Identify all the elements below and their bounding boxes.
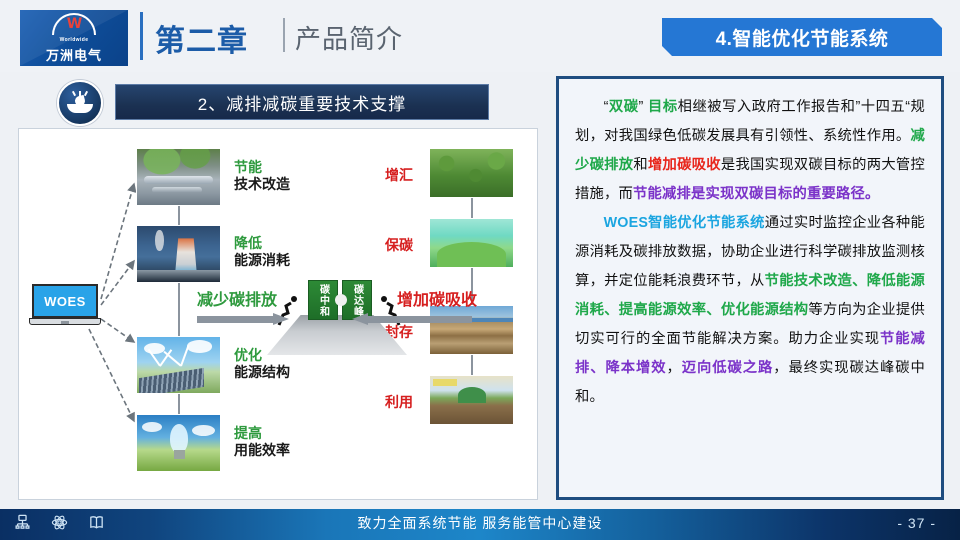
page-title: 产品简介 — [295, 19, 403, 56]
paragraph-1: “双碳” 目标相继被写入政府工作报告和”十四五“规划，对我国绿色低碳发展具有引领… — [575, 93, 925, 209]
slide-header: W Worldwide 万洲电气 第二章 产品简介 4.智能优化节能系统 — [0, 0, 960, 72]
section-badge: 4.智能优化节能系统 — [662, 18, 942, 56]
reduce-emission-arrow — [197, 313, 289, 325]
left-label-4: 提高 用能效率 — [234, 425, 290, 459]
carbon-utilization-photo — [429, 375, 514, 425]
increase-absorption-arrow — [352, 313, 472, 325]
subsection-title-bar: 2、减排减碳重要技术支撑 — [115, 84, 489, 120]
hand-leaf-icon — [57, 80, 103, 126]
forest-photo — [429, 148, 514, 198]
carbon-strategy-diagram: WOES 节能 技术改造 降低 能源消耗 优化 能源结构 提高 用能效率 — [18, 128, 538, 500]
right-label-4: 利用 — [385, 392, 413, 412]
slide-footer: 致力全面系统节能 服务能管中心建设 - 37 - — [0, 506, 960, 540]
industrial-pipes-photo — [136, 148, 221, 206]
left-label-2: 降低 能源消耗 — [234, 235, 290, 269]
woes-label: WOES — [44, 294, 86, 309]
logo-emblem-letter: W — [52, 16, 96, 32]
green-earth-photo — [429, 218, 514, 268]
subsection-title: 2、减排减碳重要技术支撑 — [198, 90, 406, 115]
page-number: - 37 - — [897, 515, 936, 531]
paragraph-2: WOES智能优化节能系统通过实时监控企业各种能源消耗及碳排放数据，协助企业进行科… — [575, 209, 925, 412]
cooling-tower-photo — [136, 225, 221, 283]
description-panel: “双碳” 目标相继被写入政府工作报告和”十四五“规划，对我国绿色低碳发展具有引领… — [556, 76, 944, 500]
carbon-neutral-block: 碳中和 — [308, 280, 338, 320]
footer-slogan: 致力全面系统节能 服务能管中心建设 — [0, 513, 960, 533]
solar-wind-photo — [136, 336, 221, 394]
woes-screen: WOES — [32, 284, 98, 318]
logo-chinese-name: 万洲电气 — [46, 45, 102, 64]
right-label-2: 保碳 — [385, 235, 413, 255]
company-logo: W Worldwide 万洲电气 — [20, 10, 128, 66]
description-text: “双碳” 目标相继被写入政府工作报告和”十四五“规划，对我国绿色低碳发展具有引领… — [559, 79, 941, 412]
left-label-1: 节能 技术改造 — [234, 159, 290, 193]
logo-english-name: Worldwide — [60, 37, 89, 43]
title-separator — [283, 18, 285, 52]
energy-bulb-photo — [136, 414, 221, 472]
right-label-1: 增汇 — [385, 165, 413, 185]
woes-source-node[interactable]: WOES — [29, 284, 101, 330]
increase-absorption-label: 增加碳吸收 — [397, 286, 477, 310]
chapter-label: 第二章 — [155, 16, 248, 60]
logo-emblem-icon: W — [52, 13, 96, 35]
block-connector — [335, 294, 347, 306]
reduce-emission-label: 减少碳排放 — [197, 286, 277, 310]
laptop-base — [29, 318, 101, 325]
header-divider — [140, 12, 143, 60]
